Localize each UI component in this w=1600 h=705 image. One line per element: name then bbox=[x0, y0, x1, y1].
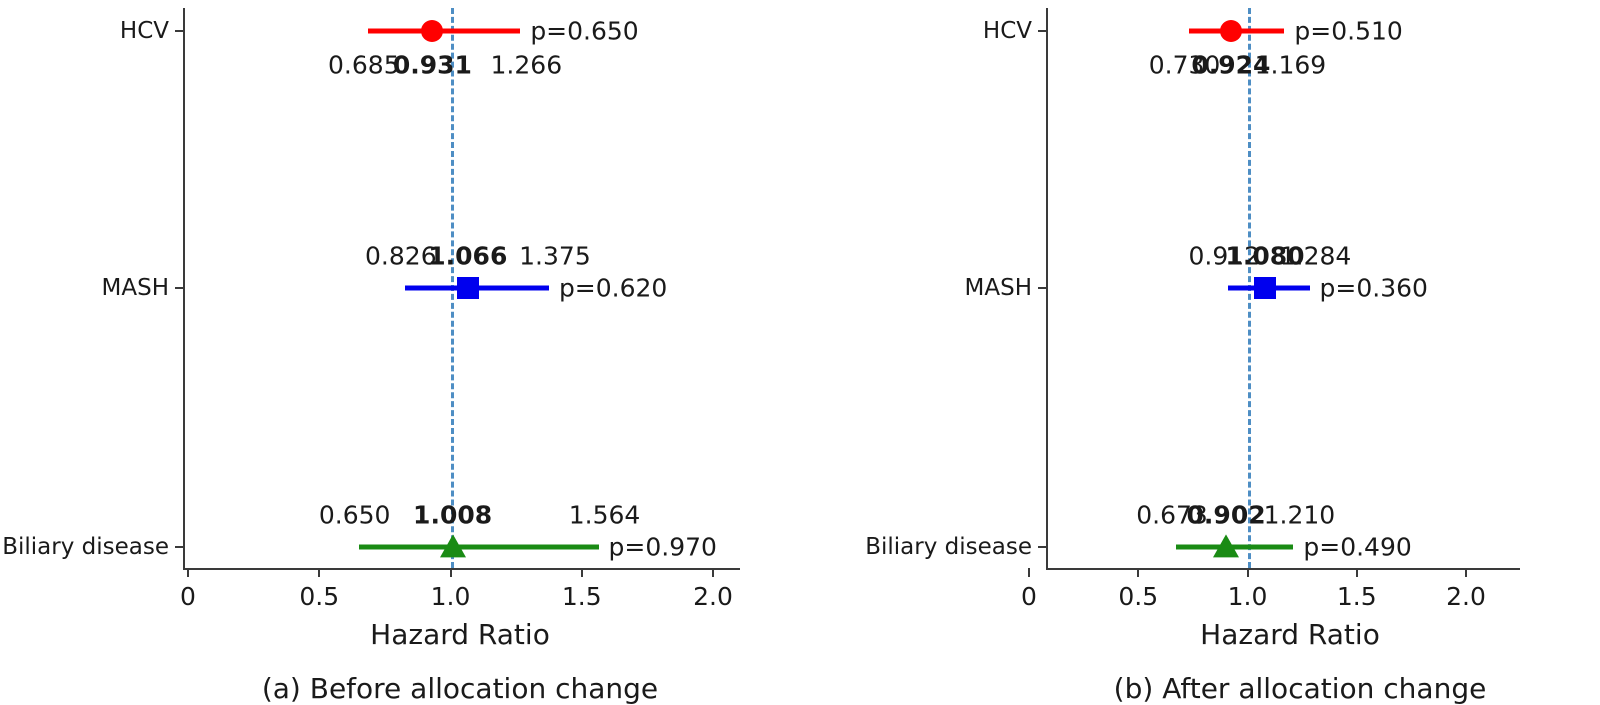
x-tick-label: 0 bbox=[1021, 582, 1037, 611]
x-tick-label: 0.5 bbox=[1118, 582, 1158, 611]
x-axis-spine bbox=[1046, 568, 1520, 570]
x-tick-mark bbox=[450, 568, 452, 577]
ci-upper-label: 1.266 bbox=[491, 51, 563, 80]
panel-after-allocation-change: 00.51.01.52.0Hazard Ratio(b) After alloc… bbox=[800, 0, 1600, 701]
x-tick-mark bbox=[318, 568, 320, 577]
p-value-label: p=0.650 bbox=[530, 17, 638, 46]
confidence-interval-line bbox=[368, 29, 521, 34]
panel-before-allocation-change: 00.51.01.52.0Hazard Ratio(a) Before allo… bbox=[0, 0, 800, 701]
hazard-ratio-label: 0.902 bbox=[1187, 501, 1266, 530]
y-axis-spine bbox=[183, 8, 185, 568]
p-value-label: p=0.970 bbox=[609, 533, 717, 562]
y-axis-category-label: MASH bbox=[800, 275, 1032, 301]
y-axis-category-label: Biliary disease bbox=[800, 534, 1032, 560]
x-tick-mark bbox=[1137, 568, 1139, 577]
x-tick-label: 1.0 bbox=[1228, 582, 1268, 611]
x-axis-title: Hazard Ratio bbox=[1200, 618, 1380, 651]
hazard-ratio-label: 0.931 bbox=[393, 51, 472, 80]
y-axis-category-label: HCV bbox=[800, 18, 1032, 44]
panel-caption: (b) After allocation change bbox=[1114, 672, 1487, 705]
hazard-ratio-label: 1.008 bbox=[413, 501, 492, 530]
panel-caption: (a) Before allocation change bbox=[262, 672, 658, 705]
x-tick-label: 2.0 bbox=[1446, 582, 1486, 611]
x-axis-title: Hazard Ratio bbox=[370, 618, 550, 651]
ci-upper-label: 1.169 bbox=[1255, 51, 1327, 80]
y-axis-category-label: Biliary disease bbox=[0, 534, 169, 560]
y-tick-mark bbox=[175, 546, 183, 548]
point-estimate-marker-square bbox=[457, 277, 479, 299]
ci-lower-label: 0.650 bbox=[319, 501, 391, 530]
point-estimate-marker-circle bbox=[421, 20, 443, 42]
x-tick-label: 0 bbox=[180, 582, 196, 611]
forest-plot-figure: 00.51.01.52.0Hazard Ratio(a) Before allo… bbox=[0, 0, 1600, 701]
p-value-label: p=0.360 bbox=[1320, 274, 1428, 303]
p-value-label: p=0.620 bbox=[559, 274, 667, 303]
x-tick-mark bbox=[1247, 568, 1249, 577]
y-tick-mark bbox=[1038, 287, 1046, 289]
x-tick-label: 1.5 bbox=[1337, 582, 1377, 611]
y-axis-spine bbox=[1046, 8, 1048, 568]
x-tick-mark bbox=[1028, 568, 1030, 577]
y-axis-category-label: HCV bbox=[0, 18, 169, 44]
y-tick-mark bbox=[1038, 546, 1046, 548]
ci-lower-label: 0.826 bbox=[365, 242, 437, 271]
x-tick-mark bbox=[712, 568, 714, 577]
y-tick-mark bbox=[175, 287, 183, 289]
ci-lower-label: 0.685 bbox=[328, 51, 400, 80]
ci-upper-label: 1.375 bbox=[519, 242, 591, 271]
y-tick-mark bbox=[175, 30, 183, 32]
ci-upper-label: 1.284 bbox=[1280, 242, 1352, 271]
x-tick-mark bbox=[1356, 568, 1358, 577]
x-tick-label: 2.0 bbox=[693, 582, 733, 611]
x-tick-mark bbox=[581, 568, 583, 577]
x-tick-mark bbox=[187, 568, 189, 577]
p-value-label: p=0.490 bbox=[1303, 533, 1411, 562]
point-estimate-marker-triangle bbox=[440, 534, 466, 557]
y-tick-mark bbox=[1038, 30, 1046, 32]
x-tick-label: 0.5 bbox=[299, 582, 339, 611]
hazard-ratio-label: 1.066 bbox=[428, 242, 507, 271]
confidence-interval-line bbox=[359, 545, 599, 550]
ci-upper-label: 1.564 bbox=[569, 501, 641, 530]
point-estimate-marker-circle bbox=[1220, 20, 1242, 42]
point-estimate-marker-square bbox=[1254, 277, 1276, 299]
x-tick-label: 1.5 bbox=[562, 582, 602, 611]
point-estimate-marker-triangle bbox=[1213, 534, 1239, 557]
p-value-label: p=0.510 bbox=[1294, 17, 1402, 46]
x-tick-mark bbox=[1465, 568, 1467, 577]
ci-upper-label: 1.210 bbox=[1264, 501, 1336, 530]
y-axis-category-label: MASH bbox=[0, 275, 169, 301]
x-axis-spine bbox=[183, 568, 740, 570]
x-tick-label: 1.0 bbox=[431, 582, 471, 611]
